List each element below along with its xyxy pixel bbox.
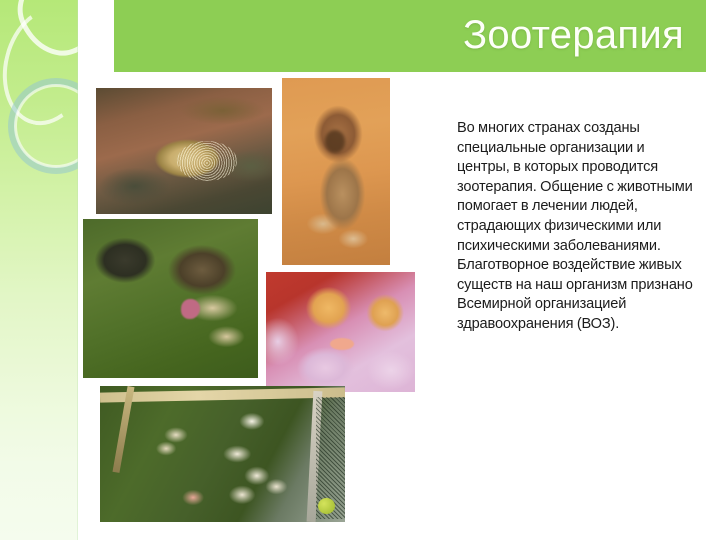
duckpen-green-ball [318,498,335,514]
hedgehog-photo [96,88,272,214]
puppy-photo-pixels [282,78,390,265]
decorative-side-band [0,0,78,540]
chicks-photo [266,272,415,392]
shepherd-photo-pixels [83,219,258,378]
shepherd-photo [83,219,258,378]
body-paragraph: Во многих странах созданы специальные ор… [457,119,693,335]
title-bar: Зоотерапия [114,0,706,72]
chicks-photo-pixels [266,272,415,392]
duckpen-photo [100,386,345,522]
body-text-block: Во многих странах созданы специальные ор… [457,119,693,335]
puppy-photo [282,78,390,265]
decorative-band-divider [77,0,78,540]
hedgehog-spines [177,141,237,181]
page-title: Зоотерапия [114,6,684,64]
chicks-bow [330,338,354,350]
puppy-snout [325,130,344,152]
decorative-band-inner [0,0,78,540]
slide-canvas: Зоотерапия Во многих странах созданы спе… [0,0,720,540]
